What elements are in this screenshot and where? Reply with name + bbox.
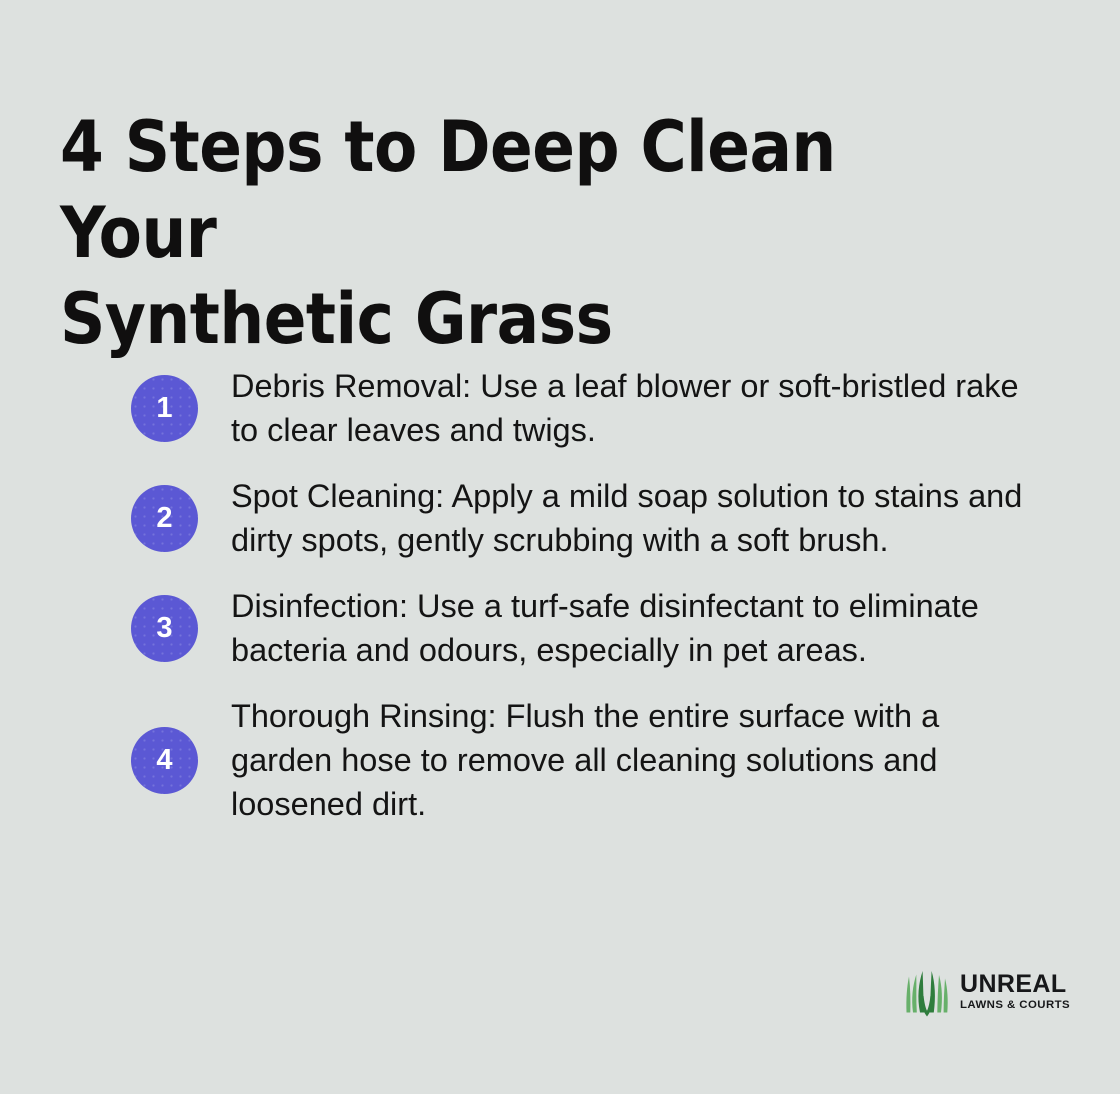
list-item: 3 Disinfection: Use a turf-safe disinfec… [131,584,1061,672]
title-block: 4 Steps to Deep Clean Your Synthetic Gra… [60,104,960,362]
step-badge-1: 1 [131,375,198,442]
step-badge-4: 4 [131,727,198,794]
list-item: 2 Spot Cleaning: Apply a mild soap solut… [131,474,1061,562]
infographic-canvas: 4 Steps to Deep Clean Your Synthetic Gra… [0,0,1120,1094]
brand-logo: UNREAL LAWNS & COURTS [901,966,1070,1018]
step-badge-2: 2 [131,485,198,552]
grass-blades-icon [901,966,953,1018]
list-item: 4 Thorough Rinsing: Flush the entire sur… [131,694,1061,826]
logo-wordmark: UNREAL LAWNS & COURTS [960,972,1070,1011]
logo-secondary-text: LAWNS & COURTS [960,1000,1070,1011]
logo-primary-text: UNREAL [960,972,1067,997]
list-item: 1 Debris Removal: Use a leaf blower or s… [131,364,1061,452]
steps-list: 1 Debris Removal: Use a leaf blower or s… [131,364,1061,826]
step-text-4: Thorough Rinsing: Flush the entire surfa… [231,694,1049,826]
step-text-1: Debris Removal: Use a leaf blower or sof… [231,364,1049,452]
page-title: 4 Steps to Deep Clean Your Synthetic Gra… [60,104,960,362]
step-badge-3: 3 [131,595,198,662]
step-text-2: Spot Cleaning: Apply a mild soap solutio… [231,474,1049,562]
step-text-3: Disinfection: Use a turf-safe disinfecta… [231,584,1049,672]
